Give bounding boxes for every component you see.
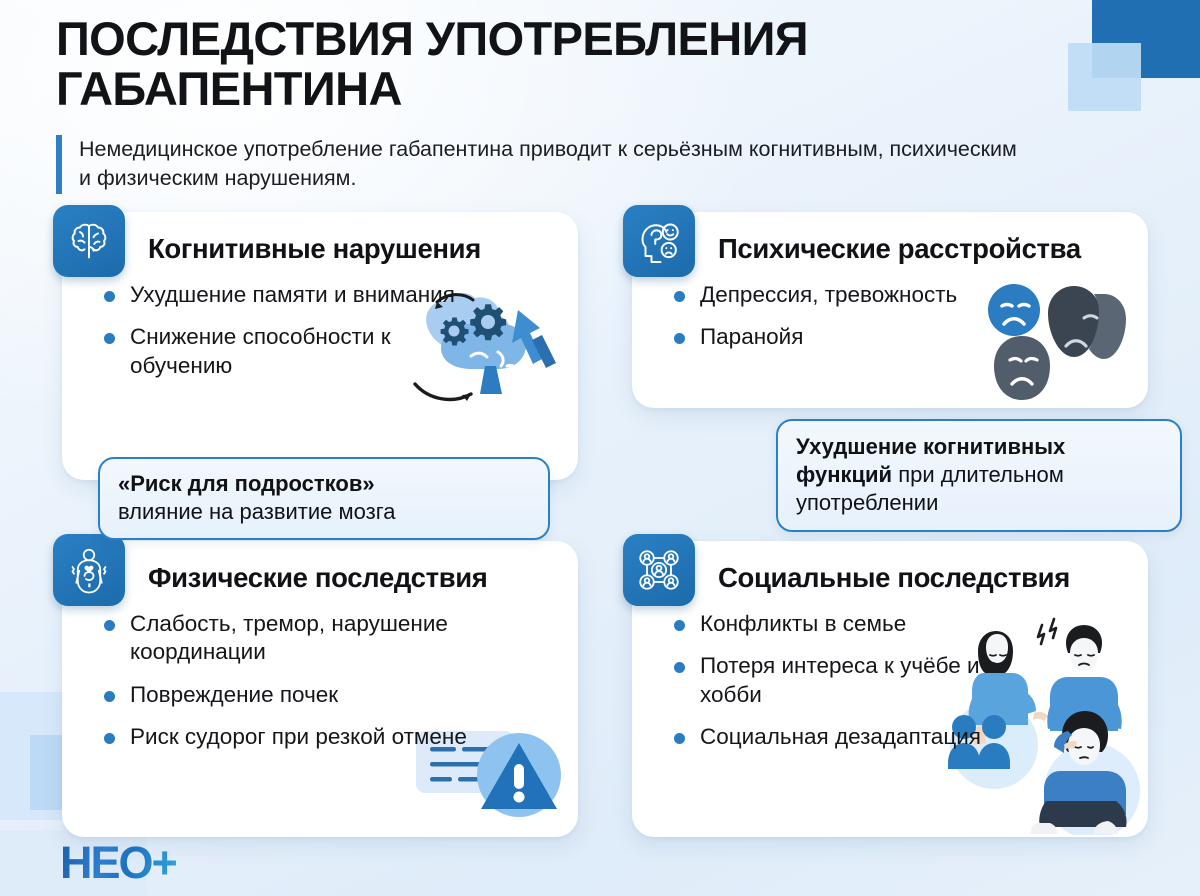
list-item: Паранойя bbox=[672, 323, 1050, 352]
list-item: Социальная дезадаптация bbox=[672, 723, 1030, 752]
bullet-list-mental: Депрессия, тревожность Паранойя bbox=[632, 265, 1148, 352]
list-item: Риск судорог при резкой отмене bbox=[102, 723, 490, 752]
card-title-social: Социальные последствия bbox=[632, 541, 1148, 594]
card-title-physical: Физические последствия bbox=[62, 541, 578, 594]
list-item: Слабость, тремор, нарушение координации bbox=[102, 610, 490, 667]
callout-teen-risk: «Риск для подростков» влияние на развити… bbox=[98, 457, 550, 540]
list-item: Конфликты в семье bbox=[672, 610, 1030, 639]
list-item: Повреждение почек bbox=[102, 681, 490, 710]
infographic-page: ПОСЛЕДСТВИЯ УПОТРЕБЛЕНИЯ ГАБАПЕНТИНА Нем… bbox=[0, 0, 1200, 896]
bullet-list-cognitive: Ухудшение памяти и внимания Снижение спо… bbox=[62, 265, 578, 381]
card-mental[interactable]: Психические расстройства bbox=[632, 212, 1148, 408]
callout-teen-rest: влияние на развитие мозга bbox=[118, 499, 395, 524]
page-title: ПОСЛЕДСТВИЯ УПОТРЕБЛЕНИЯ ГАБАПЕНТИНА bbox=[0, 0, 956, 114]
callout-teen-text: «Риск для подростков» влияние на развити… bbox=[118, 470, 530, 526]
callout-teen-strong: «Риск для подростков» bbox=[118, 471, 375, 496]
bullet-list-physical: Слабость, тремор, нарушение координации … bbox=[62, 594, 578, 752]
list-item: Потеря интереса к учёбе и хобби bbox=[672, 652, 1030, 709]
header: ПОСЛЕДСТВИЯ УПОТРЕБЛЕНИЯ ГАБАПЕНТИНА Нем… bbox=[0, 0, 1060, 194]
card-physical[interactable]: Физические последствия Слабость, т bbox=[62, 541, 578, 837]
brand-logo: НЕО+ bbox=[60, 840, 176, 885]
card-cognitive[interactable]: Когнитивные нарушения bbox=[62, 212, 578, 480]
callout-cognitive-decline: Ухудшение когнитивных функций при длител… bbox=[776, 419, 1182, 532]
card-title-mental: Психические расстройства bbox=[632, 212, 1148, 265]
decor-square-top-right-light bbox=[1068, 43, 1141, 111]
card-title-cognitive: Когнитивные нарушения bbox=[62, 212, 578, 265]
list-item: Ухудшение памяти и внимания bbox=[102, 281, 480, 310]
list-item: Депрессия, тревожность bbox=[672, 281, 1050, 310]
bullet-list-social: Конфликты в семье Потеря интереса к учёб… bbox=[632, 594, 1148, 752]
subtitle-block: Немедицинское употребление габапентина п… bbox=[56, 135, 1019, 194]
card-social[interactable]: Социальные последствия bbox=[632, 541, 1148, 837]
page-subtitle: Немедицинское употребление габапентина п… bbox=[79, 135, 1019, 194]
callout-cognitive-text: Ухудшение когнитивных функций при длител… bbox=[796, 433, 1162, 517]
list-item: Снижение способности к обучению bbox=[102, 323, 480, 380]
